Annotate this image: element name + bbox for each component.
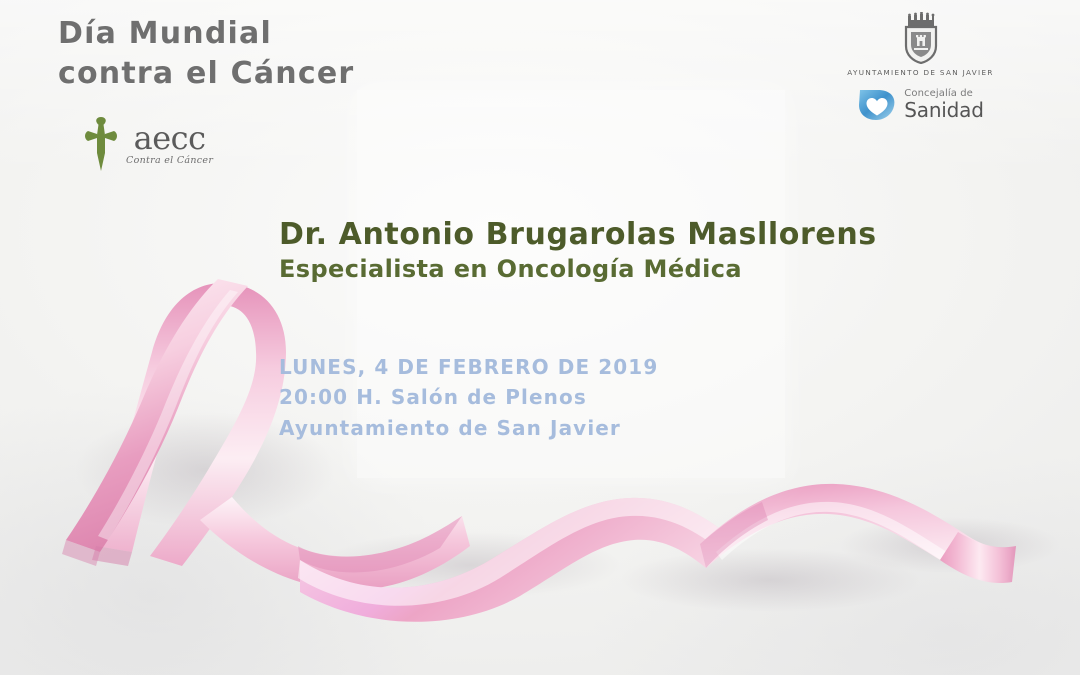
speaker-name: Dr. Antonio Brugarolas Masllorens [279,218,877,253]
event-details-block: LUNES, 4 DE FEBRERO DE 2019 20:00 H. Sal… [279,352,658,443]
shield-wrap [833,12,1008,64]
townhall-name: AYUNTAMIENTO DE SAN JAVIER [833,68,1008,77]
sanidad-line2: Sanidad [904,100,983,120]
sanidad-logo: Concejalía de Sanidad [833,87,1008,121]
page-title: Día Mundial contra el Cáncer [58,14,354,94]
event-date: LUNES, 4 DE FEBRERO DE 2019 [279,352,658,382]
aecc-wordmark: aecc [134,124,206,153]
event-place: Ayuntamiento de San Javier [279,413,658,443]
heart-health-icon [857,87,897,121]
poster-canvas: Día Mundial contra el Cáncer aecc Contra… [0,0,1080,675]
speaker-block: Dr. Antonio Brugarolas Masllorens Especi… [279,218,877,284]
event-time-venue: 20:00 H. Salón de Plenos [279,382,658,412]
townhall-logo-block: AYUNTAMIENTO DE SAN JAVIER Concejalía de… [833,12,1008,121]
cross-of-saint-james-icon [84,117,118,173]
sanidad-text: Concejalía de Sanidad [904,89,983,120]
aecc-wordmark-block: aecc Contra el Cáncer [126,124,213,166]
aecc-logo: aecc Contra el Cáncer [84,117,213,173]
speaker-role: Especialista en Oncología Médica [279,255,877,284]
sanidad-line1: Concejalía de [904,89,983,99]
aecc-tagline: Contra el Cáncer [126,155,213,166]
san-javier-coat-of-arms-icon [899,12,943,64]
